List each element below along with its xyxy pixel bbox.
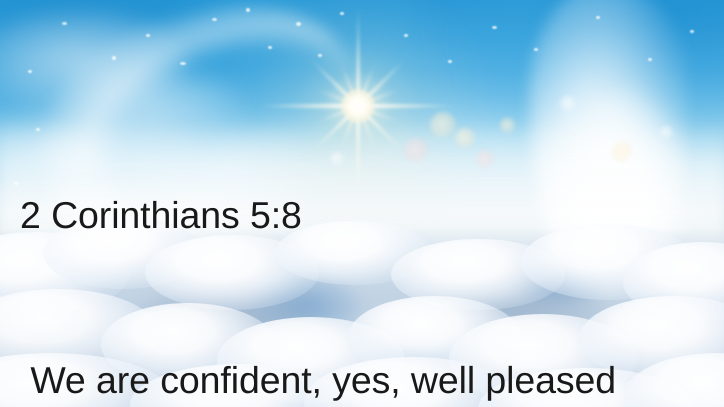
scripture-slide: 2 Corinthians 5:8 We are confident, yes,… [0,0,724,407]
verse-reference-line: 2 Corinthians 5:8 [20,188,724,243]
verse-text-block: 2 Corinthians 5:8 We are confident, yes,… [0,0,724,407]
verse-line-2: We are confident, yes, well pleased [20,353,724,407]
